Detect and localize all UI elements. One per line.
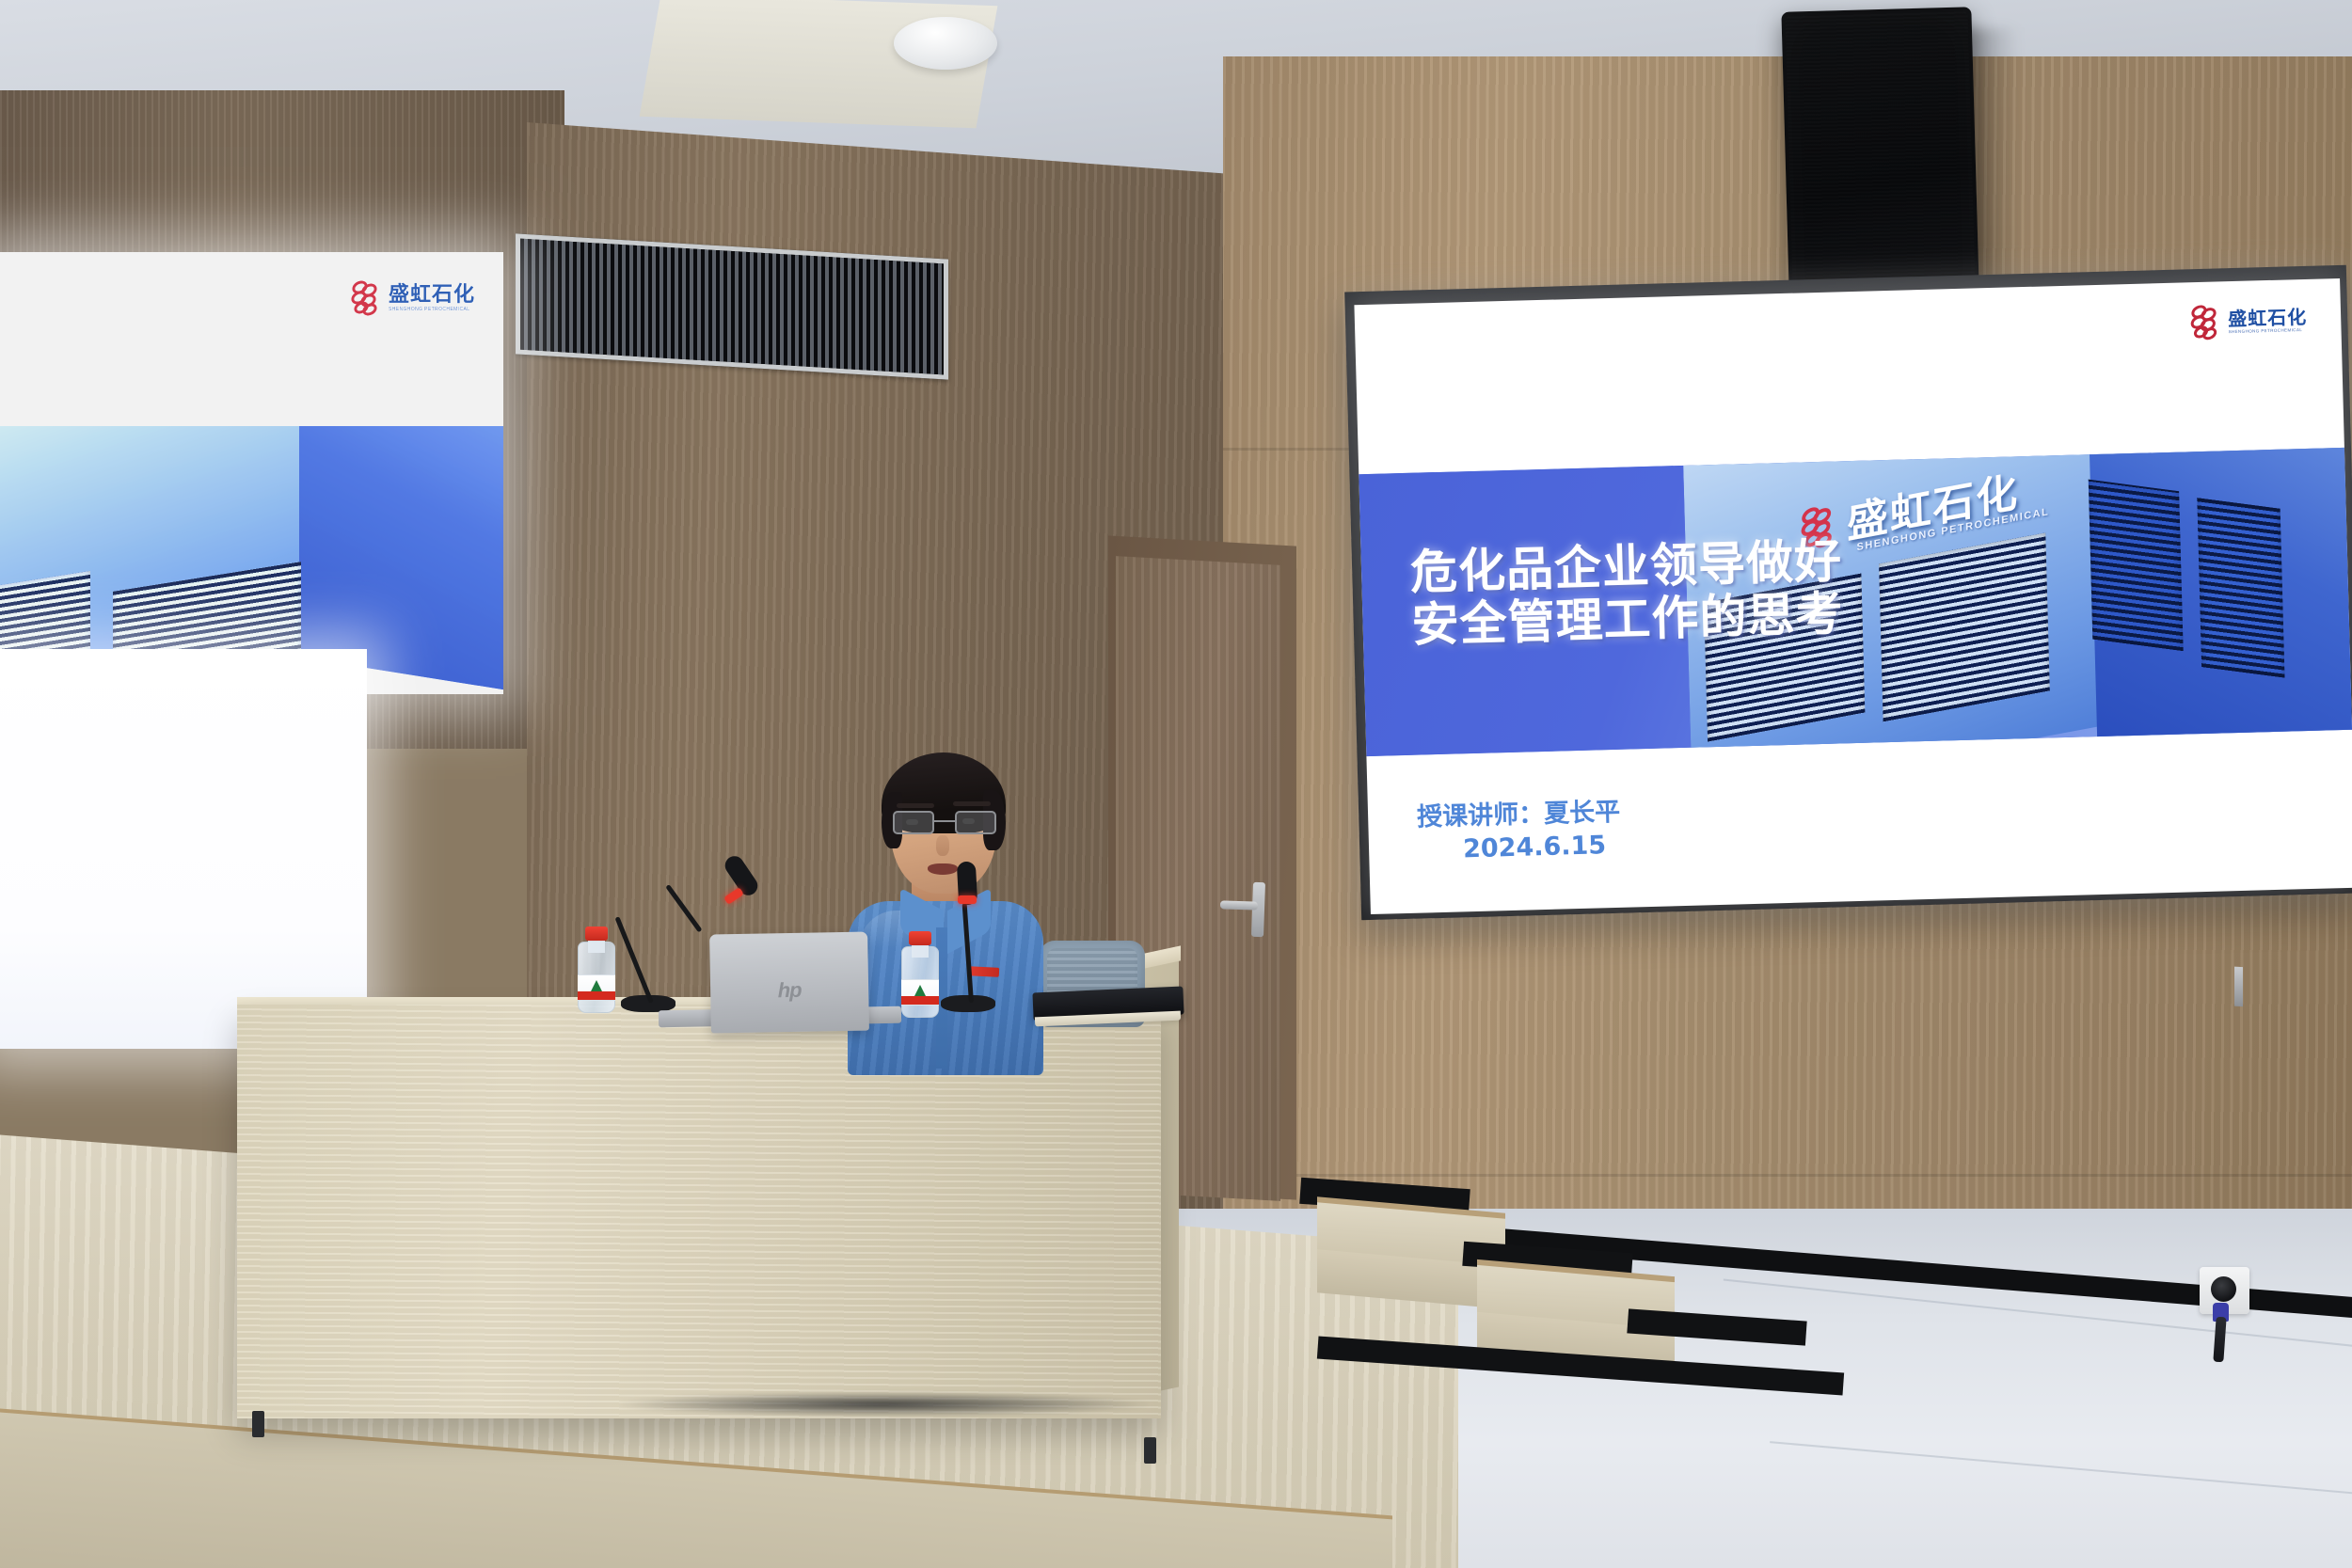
slide-date: 2024.6.15 (1463, 831, 1607, 863)
slide-logo: 盛虹石化 SHENGHONG PETROCHEMICAL (350, 280, 475, 316)
door-hinge-icon (2234, 967, 2243, 1007)
eyeglasses-icon (893, 811, 996, 835)
shenghong-ribbon-logo-icon (350, 280, 382, 316)
bottle-cap (585, 927, 608, 941)
bottle-cap (909, 931, 931, 945)
door-handle[interactable] (1220, 900, 1258, 910)
nose (936, 835, 949, 856)
shenghong-ribbon-logo-icon (2189, 304, 2222, 341)
main-presentation-screen: 盛虹石化 SHENGHONG PETROCHEMICAL (1354, 278, 2352, 914)
laptop-brand-logo: hp (777, 978, 801, 1003)
slide-logo-cn: 盛虹石化 (389, 285, 475, 306)
bottle-label (578, 974, 615, 1001)
water-bottle-right[interactable] (901, 931, 939, 1018)
slide-logo-cn: 盛虹石化 (2228, 308, 2308, 328)
ceiling-light-icon (894, 17, 997, 70)
slide-hero-band: 盛虹石化 SHENGHONG PETROCHEMICAL 危化品企业领导做好 安… (1359, 448, 2352, 756)
left-projection-screen: 盛虹石化 SHENGHONG PETROCHEMICAL 盛虹石化 SHENGH… (0, 252, 503, 694)
mouth (928, 863, 958, 875)
slide-title: 危化品企业领导做好 安全管理工作的思考 (1409, 534, 1844, 651)
hvac-vent-grille (516, 233, 948, 379)
wall-outlet-port[interactable] (2211, 1276, 2236, 1302)
left-projection-bleed (0, 649, 367, 1049)
eyebrow-right (953, 801, 991, 806)
eyebrow-left (897, 803, 934, 808)
bottle-label (901, 979, 939, 1006)
mic-indicator-light (958, 895, 977, 904)
training-room-photo: itc 盛虹石化 SHENGHONG PETROCHEMICAL 盛虹石化 SH… (0, 0, 2352, 1568)
laptop[interactable]: hp (709, 932, 869, 1034)
podium-foot (252, 1411, 264, 1437)
slide-instructor: 授课讲师：夏长平 (1417, 791, 1621, 833)
water-bottle-left[interactable] (578, 927, 615, 1013)
podium-cables (621, 1392, 1148, 1417)
podium-foot (1144, 1437, 1156, 1464)
wall-seam (1223, 1174, 2352, 1177)
slide-logo-en: SHENGHONG PETROCHEMICAL (389, 308, 475, 312)
slide-logo-en: SHENGHONG PETROCHEMICAL (2228, 328, 2307, 335)
slide-logo: 盛虹石化 SHENGHONG PETROCHEMICAL (2189, 302, 2308, 341)
